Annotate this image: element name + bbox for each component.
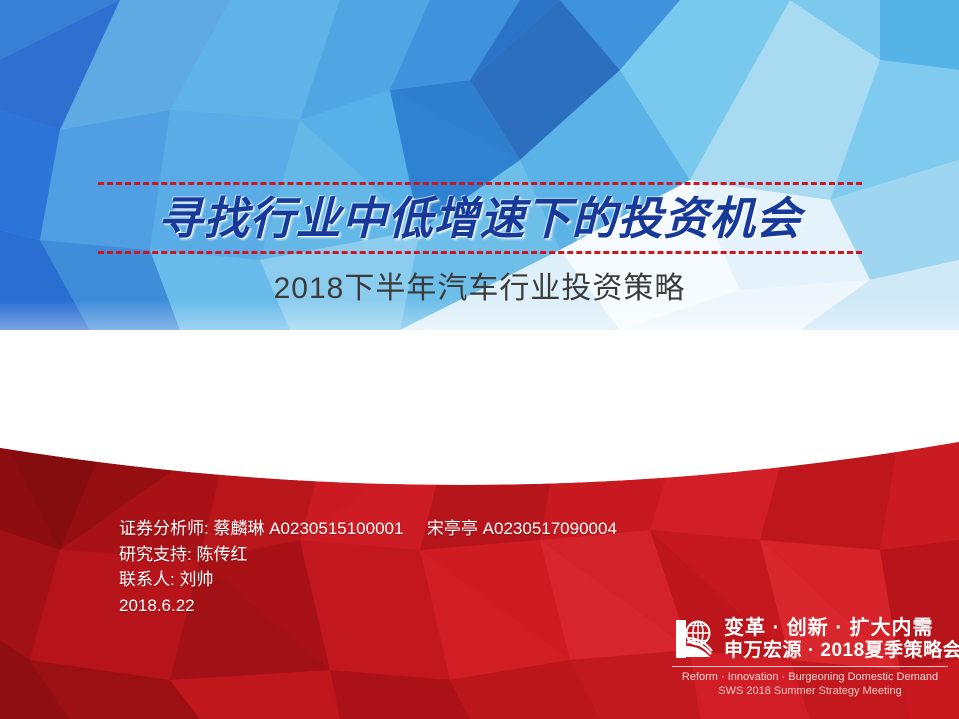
page-title: 寻找行业中低增速下的投资机会 <box>0 191 959 247</box>
dashed-rule-top <box>98 182 862 185</box>
logo-text-block: 变革 · 创新 · 扩大内需 申万宏源 · 2018夏季策略会 <box>724 617 959 662</box>
page-subtitle: 2018下半年汽车行业投资策略 <box>0 270 959 308</box>
date-line: 2018.6.22 <box>119 593 617 619</box>
white-fade-overlay <box>0 300 959 450</box>
analyst-1-name: 蔡麟琳 <box>213 519 264 538</box>
contact-line: 联系人: 刘帅 <box>119 567 617 593</box>
credits-block: 证券分析师: 蔡麟琳 A0230515100001 宋亭亭 A023051709… <box>119 516 617 618</box>
logo-english-line-2: SWS 2018 Summer Strategy Meeting <box>672 684 948 698</box>
research-support-line: 研究支持: 陈传红 <box>119 542 617 568</box>
presentation-slide: 寻找行业中低增速下的投资机会 2018下半年汽车行业投资策略 <box>0 0 959 719</box>
logo-divider <box>672 666 948 667</box>
analyst-2-name: 宋亭亭 <box>427 519 478 538</box>
analyst-2-code: A0230517090004 <box>483 519 617 538</box>
analyst-label: 证券分析师: <box>119 519 209 538</box>
logo-top-row: 变革 · 创新 · 扩大内需 申万宏源 · 2018夏季策略会 <box>672 616 948 662</box>
logo-chinese-line-1: 变革 · 创新 · 扩大内需 <box>724 617 959 640</box>
logo-chinese-line-2: 申万宏源 · 2018夏季策略会 <box>724 640 959 662</box>
title-block: 寻找行业中低增速下的投资机会 2018下半年汽车行业投资策略 <box>0 182 959 308</box>
analyst-line: 证券分析师: 蔡麟琳 A0230515100001 宋亭亭 A023051709… <box>119 516 617 542</box>
conference-logo: 变革 · 创新 · 扩大内需 申万宏源 · 2018夏季策略会 Reform ·… <box>672 616 948 698</box>
logo-english-line-1: Reform · Innovation · Burgeoning Domesti… <box>672 670 948 684</box>
globe-banner-icon <box>672 616 718 662</box>
dashed-rule-bottom <box>98 251 862 254</box>
analyst-1-code: A0230515100001 <box>269 519 403 538</box>
